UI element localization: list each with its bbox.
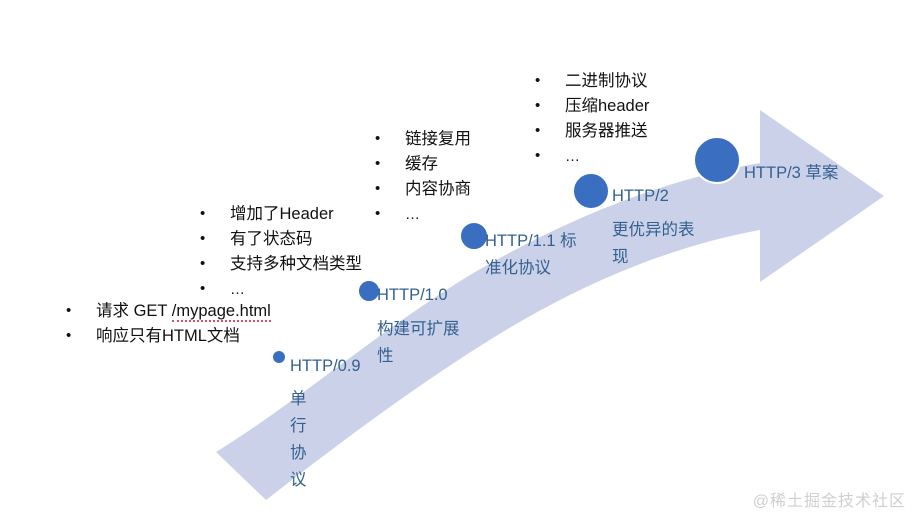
bullet-item: …	[531, 144, 649, 169]
bullet-item: 请求 GET /mypage.html	[62, 299, 271, 324]
bullet-item: 服务器推送	[531, 119, 649, 144]
bullet-item: 压缩header	[531, 94, 649, 119]
bullet-group-http11: 链接复用 缓存 内容协商 …	[371, 127, 471, 227]
bullet-group-http10: 增加了Header 有了状态码 支持多种文档类型 …	[196, 202, 362, 302]
bullet-item: …	[371, 202, 471, 227]
milestone-title: HTTP/0.9	[290, 355, 361, 377]
bullet-item: 二进制协议	[531, 69, 649, 94]
watermark: @稀土掘金技术社区	[753, 487, 906, 511]
bullet-group-http2: 二进制协议 压缩header 服务器推送 …	[531, 69, 649, 169]
milestone-dot-icon	[693, 136, 741, 184]
bullet-group-http09: 请求 GET /mypage.html 响应只有HTML文档	[62, 299, 271, 349]
http-evolution-slide: 请求 GET /mypage.html 响应只有HTML文档 增加了Header…	[0, 0, 922, 525]
bullet-item: 内容协商	[371, 177, 471, 202]
bullet-item: 增加了Header	[196, 202, 362, 227]
upward-curved-arrow	[0, 0, 922, 525]
milestone-title: HTTP/2	[612, 185, 669, 207]
bullet-item: 有了状态码	[196, 227, 362, 252]
milestone-title: HTTP/1.1 标准化协议	[485, 228, 577, 282]
bullet-item: 链接复用	[371, 127, 471, 152]
milestone-dot-icon	[271, 349, 287, 365]
bullet-item: 响应只有HTML文档	[62, 324, 271, 349]
spellchecked-text: /mypage.html	[172, 302, 271, 322]
milestone-title: HTTP/1.0	[377, 284, 448, 306]
milestone-subtitle: 更优异的表现	[612, 217, 704, 271]
milestone-subtitle: 构建可扩展性	[377, 316, 471, 370]
bullet-item: 支持多种文档类型	[196, 252, 362, 277]
milestone-subtitle: 单行协议	[290, 386, 307, 494]
milestone-dot-icon	[572, 172, 610, 210]
bullet-item: …	[196, 277, 362, 302]
milestone-title: HTTP/3 草案	[744, 162, 838, 184]
bullet-item: 缓存	[371, 152, 471, 177]
